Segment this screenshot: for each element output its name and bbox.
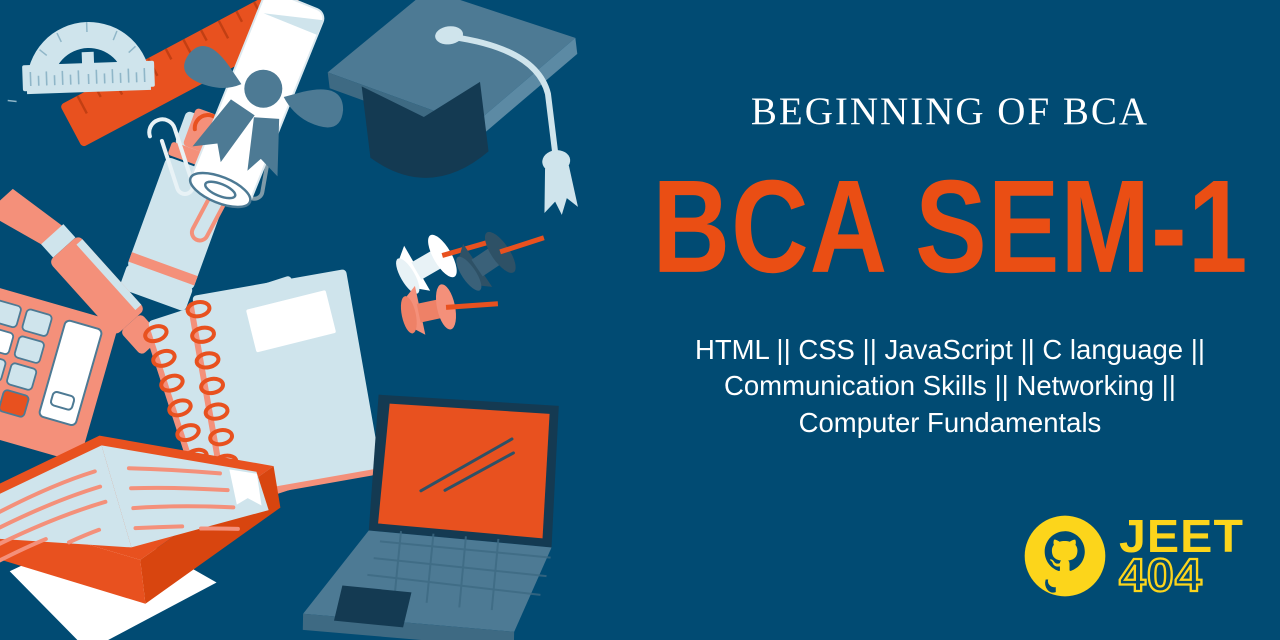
eyebrow-text: BEGINNING OF BCA — [751, 92, 1149, 131]
subjects-line-2: Communication Skills || Networking || — [695, 368, 1205, 404]
push-pins-icon — [388, 204, 551, 339]
brand-wordmark: JEET 404 — [1119, 517, 1238, 594]
stationery-illustration — [0, 0, 620, 640]
graduation-cap-icon — [319, 0, 596, 241]
github-octocat-icon — [1023, 514, 1107, 598]
subjects-list: HTML || CSS || JavaScript || C language … — [695, 332, 1205, 441]
subjects-line-3: Computer Fundamentals — [695, 405, 1205, 441]
brand-logo[interactable]: JEET 404 — [1023, 514, 1238, 598]
subjects-line-1: HTML || CSS || JavaScript || C language … — [695, 332, 1205, 368]
brand-name-bottom: 404 — [1119, 556, 1244, 595]
promo-banner: BEGINNING OF BCA BCA SEM-1 HTML || CSS |… — [0, 0, 1280, 640]
page-title: BCA SEM-1 — [652, 161, 1248, 293]
